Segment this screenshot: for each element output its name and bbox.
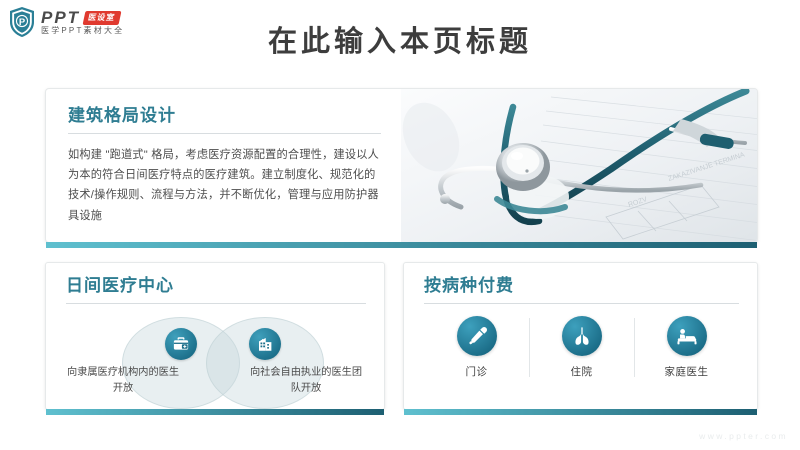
card-day-medical-center: 日间医疗中心 — [45, 262, 385, 410]
card-pay-by-disease: 按病种付费 门诊 — [403, 262, 758, 410]
card-top-heading: 建筑格局设计 — [68, 107, 381, 133]
service-item-outpatient[interactable]: 门诊 — [424, 316, 529, 379]
service-label-outpatient: 门诊 — [466, 364, 488, 379]
card-top-accent-bar — [46, 242, 757, 248]
service-label-inpatient: 住院 — [571, 364, 593, 379]
card-bl-accent-bar — [46, 409, 384, 415]
page-title: 在此输入本页标题 — [0, 18, 800, 60]
patient-in-bed-icon[interactable] — [667, 316, 707, 356]
service-item-inpatient[interactable]: 住院 — [529, 316, 634, 379]
heading-divider — [424, 303, 739, 304]
venn-label-right: 向社会自由执业的医生团队开放 — [246, 365, 366, 397]
service-item-family-doctor[interactable]: 家庭医生 — [634, 316, 739, 379]
heading-divider — [68, 133, 381, 134]
venn-diagram: 向隶属医疗机构内的医生开放 向社会自由执业的医生团队开放 — [66, 315, 366, 407]
card-top-body: 如构建 "跑道式" 格局，考虑医疗资源配置的合理性，建设以人为本的符合日间医疗特… — [68, 145, 381, 227]
card-br-accent-bar — [404, 409, 757, 415]
hospital-building-icon[interactable] — [249, 328, 281, 360]
card-br-heading: 按病种付费 — [424, 277, 739, 303]
card-top-text-pane: 建筑格局设计 如构建 "跑道式" 格局，考虑医疗资源配置的合理性，建设以人为本的… — [46, 89, 401, 242]
venn-label-left: 向隶属医疗机构内的医生开放 — [63, 365, 183, 397]
card-building-layout: 建筑格局设计 如构建 "跑道式" 格局，考虑医疗资源配置的合理性，建设以人为本的… — [45, 88, 758, 243]
service-label-family-doctor: 家庭医生 — [665, 364, 709, 379]
lungs-icon[interactable] — [562, 316, 602, 356]
service-icon-row: 门诊 住院 — [424, 316, 739, 379]
heading-divider — [66, 303, 366, 304]
medical-kit-icon[interactable] — [165, 328, 197, 360]
stethoscope-photo: ZAKAZIVANJE TERMINA ROZV — [401, 89, 757, 242]
dropper-icon[interactable] — [457, 316, 497, 356]
footer-watermark: www.ppter.com — [699, 431, 788, 441]
card-bl-heading: 日间医疗中心 — [66, 277, 366, 303]
